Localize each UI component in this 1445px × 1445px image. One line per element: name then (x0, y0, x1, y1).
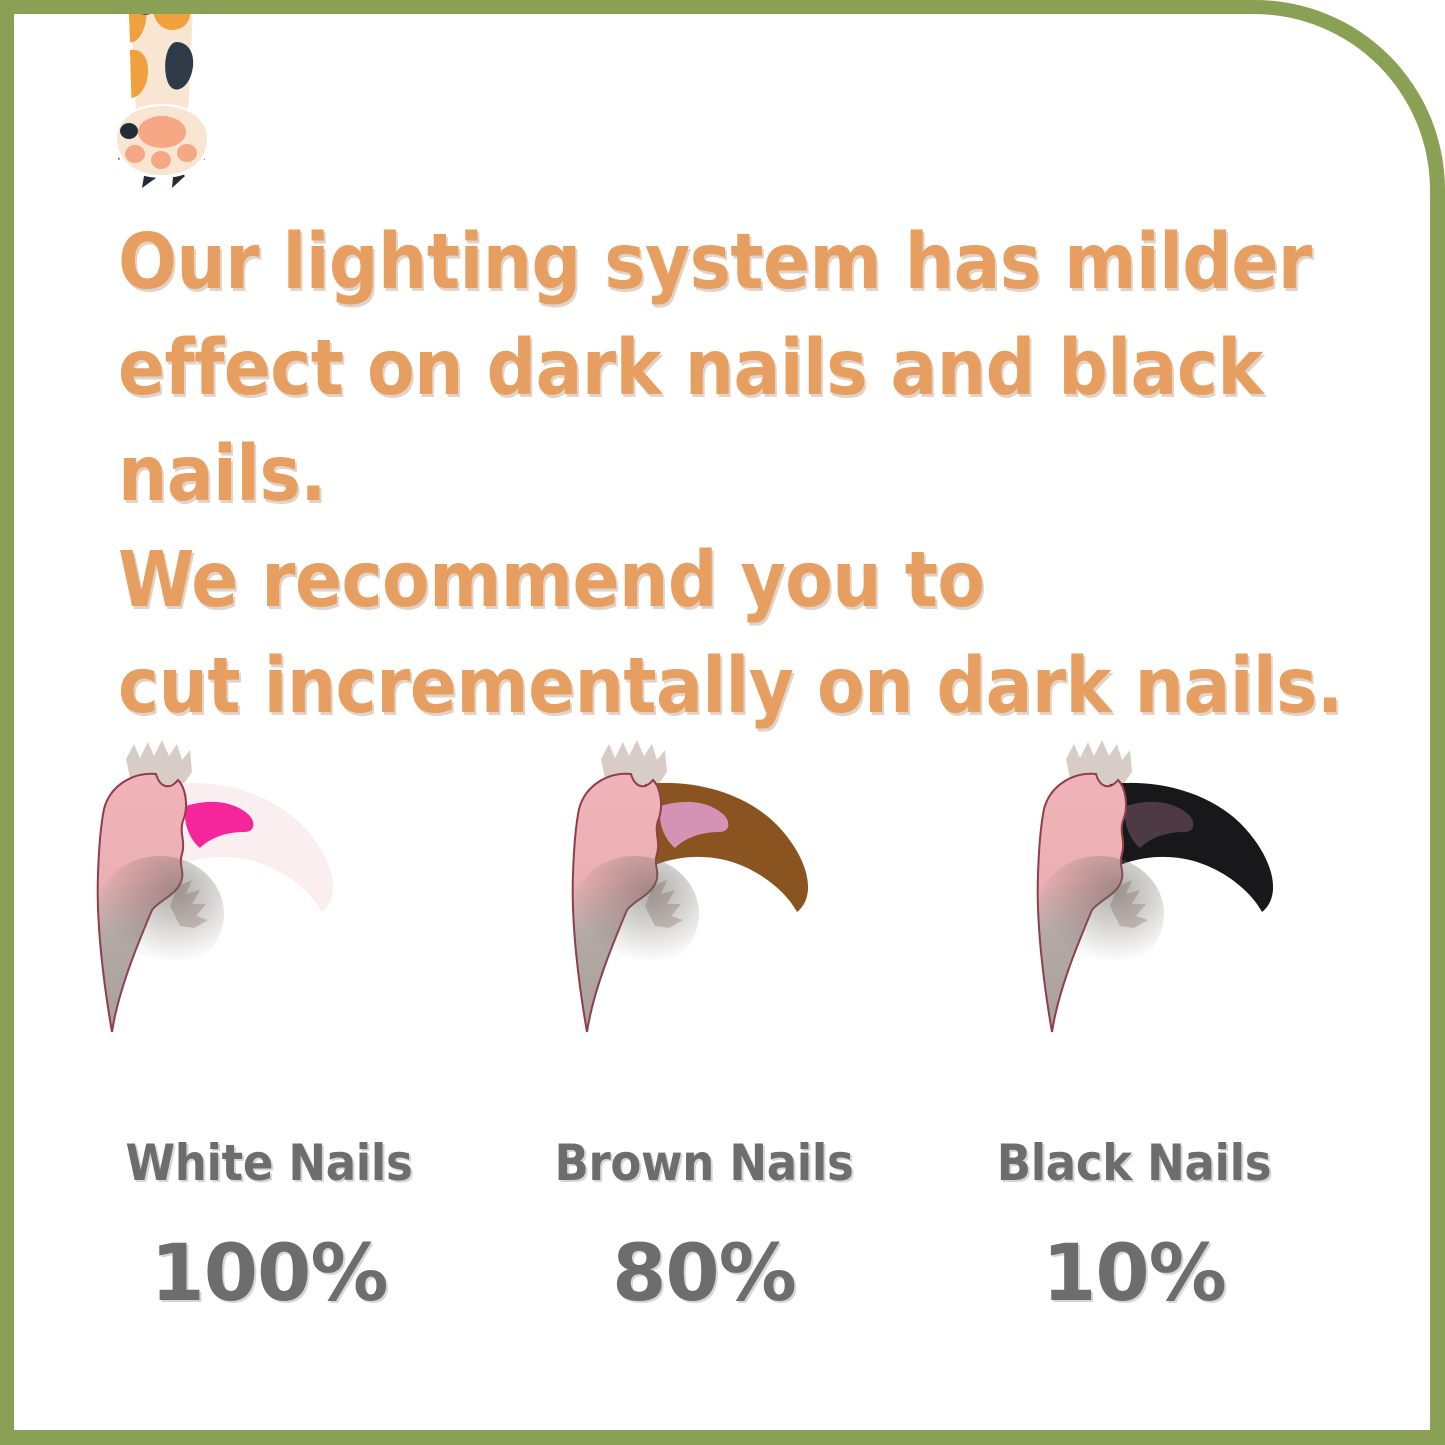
nail-illustration-black (1014, 714, 1430, 1094)
nail-percent-black: 10% (924, 1232, 1344, 1316)
nail-illustration-brown (549, 714, 969, 1094)
nail-labels-row: White Nails 100% Brown Nails 80% Black N… (14, 1134, 1430, 1364)
nail-stat-brown: Brown Nails 80% (494, 1134, 914, 1316)
nail-label-black: Black Nails (924, 1134, 1344, 1192)
page-title: Our lighting system has milder effect on… (118, 210, 1368, 740)
toe-shadow (571, 856, 699, 972)
calico-cat-paw-icon (102, 14, 222, 198)
toe-shadow (96, 856, 224, 972)
infographic-inner-panel: Our lighting system has milder effect on… (14, 14, 1430, 1430)
infographic-card: Our lighting system has milder effect on… (0, 0, 1445, 1445)
nail-illustrations-row (14, 714, 1430, 1114)
nail-illustration-white (74, 714, 494, 1094)
nail-stat-black: Black Nails 10% (924, 1134, 1344, 1316)
nail-percent-brown: 80% (494, 1232, 914, 1316)
nail-label-brown: Brown Nails (494, 1134, 914, 1192)
nail-percent-white: 100% (59, 1232, 479, 1316)
nail-stat-white: White Nails 100% (59, 1134, 479, 1316)
nail-label-white: White Nails (59, 1134, 479, 1192)
toe-shadow (1036, 856, 1164, 972)
